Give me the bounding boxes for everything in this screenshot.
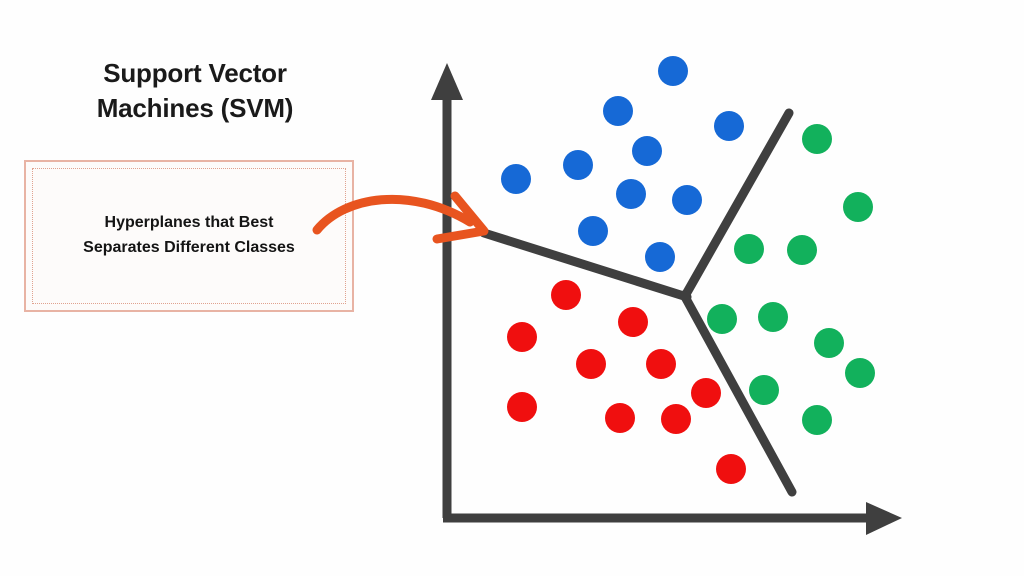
data-point-blue [658, 56, 688, 86]
data-point-green [787, 235, 817, 265]
data-point-red [716, 454, 746, 484]
data-point-blue [714, 111, 744, 141]
data-point-red [646, 349, 676, 379]
series-class-blue [501, 56, 744, 272]
data-point-blue [603, 96, 633, 126]
y-axis-arrowhead-icon [431, 63, 463, 100]
data-point-red [507, 392, 537, 422]
data-point-green [814, 328, 844, 358]
data-point-green [734, 234, 764, 264]
x-axis-arrowhead-icon [866, 502, 902, 535]
data-point-blue [563, 150, 593, 180]
data-point-green [802, 405, 832, 435]
hyperplane-upper-right-branch [685, 113, 789, 296]
series-class-red [507, 280, 746, 484]
data-point-red [507, 322, 537, 352]
data-point-red [576, 349, 606, 379]
data-point-blue [632, 136, 662, 166]
hyperplane-left-branch [484, 233, 687, 297]
svm-diagram-slide: Support Vector Machines (SVM) Hyperplane… [0, 0, 1024, 576]
axes-group [431, 63, 902, 535]
pointer-arrow-icon [317, 196, 484, 239]
hyperplanes-group [484, 113, 792, 492]
data-point-green [845, 358, 875, 388]
data-point-red [618, 307, 648, 337]
data-point-green [802, 124, 832, 154]
hyperplane-lower-right-branch [684, 295, 792, 492]
data-point-green [843, 192, 873, 222]
data-point-blue [645, 242, 675, 272]
data-point-blue [578, 216, 608, 246]
data-point-red [691, 378, 721, 408]
scatter-plot-area [0, 0, 1024, 576]
data-point-green [758, 302, 788, 332]
data-point-blue [501, 164, 531, 194]
data-point-red [661, 404, 691, 434]
data-point-green [707, 304, 737, 334]
data-point-blue [672, 185, 702, 215]
data-point-red [605, 403, 635, 433]
data-point-blue [616, 179, 646, 209]
data-point-red [551, 280, 581, 310]
data-points-layer [501, 56, 875, 484]
data-point-green [749, 375, 779, 405]
